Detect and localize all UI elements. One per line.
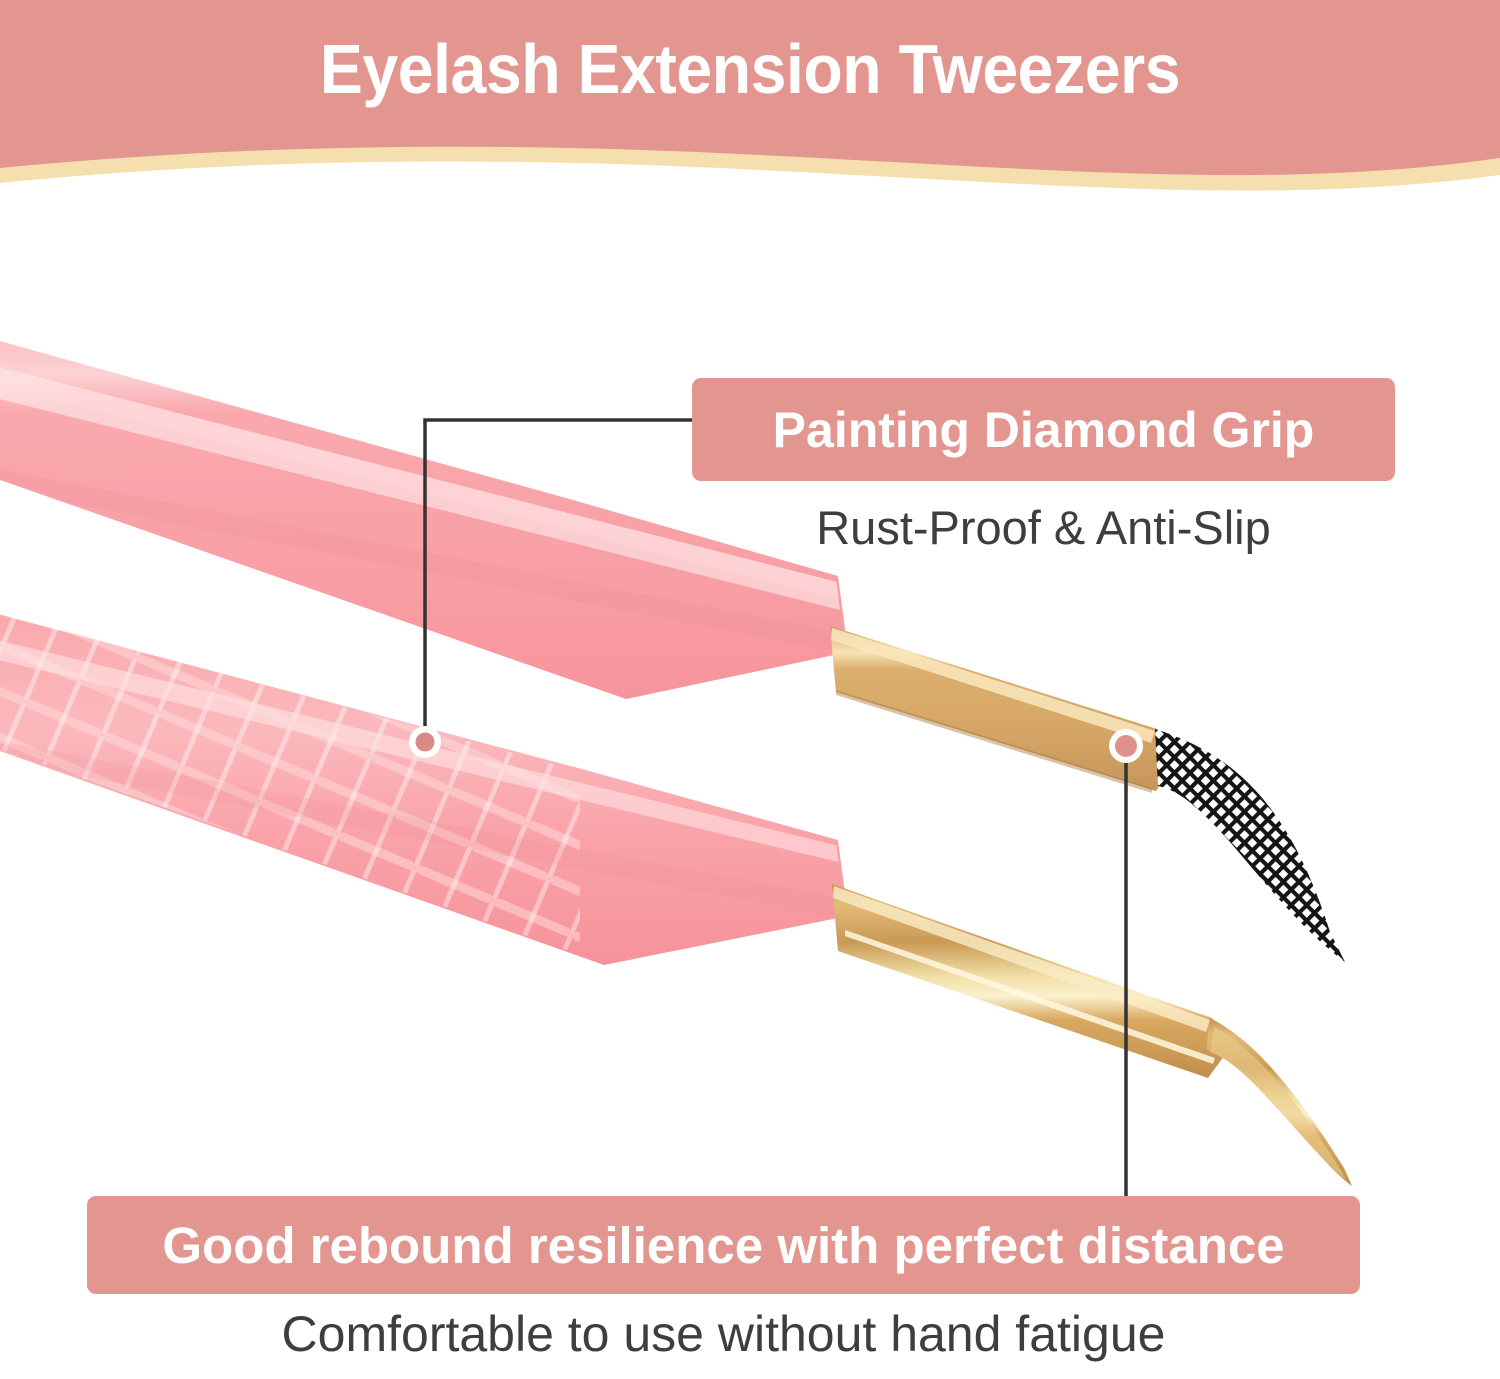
leader-line-grip [425,420,700,742]
header-banner: Eyelash Extension Tweezers [0,0,1500,215]
callout-subtitle-rebound: Comfortable to use without hand fatigue [87,1305,1360,1363]
diamond-grip-texture [0,590,580,990]
callout-label-grip: Painting Diamond Grip [692,378,1395,481]
callout-subtitle-grip: Rust-Proof & Anti-Slip [692,500,1395,555]
callout-label-rebound: Good rebound resilience with perfect dis… [87,1196,1360,1294]
callout-dot-tip [1109,729,1143,763]
callout-dot-grip [409,726,441,758]
page-title: Eyelash Extension Tweezers [60,33,1440,107]
lower-fine-point-tip [1206,1018,1352,1186]
upper-gold-arm [830,626,1173,791]
product-infographic: Eyelash Extension Tweezers Painting Diam… [0,0,1500,1379]
lower-handle [0,604,848,965]
upper-mesh-tip [1155,729,1345,962]
lower-gold-arm [832,884,1230,1078]
